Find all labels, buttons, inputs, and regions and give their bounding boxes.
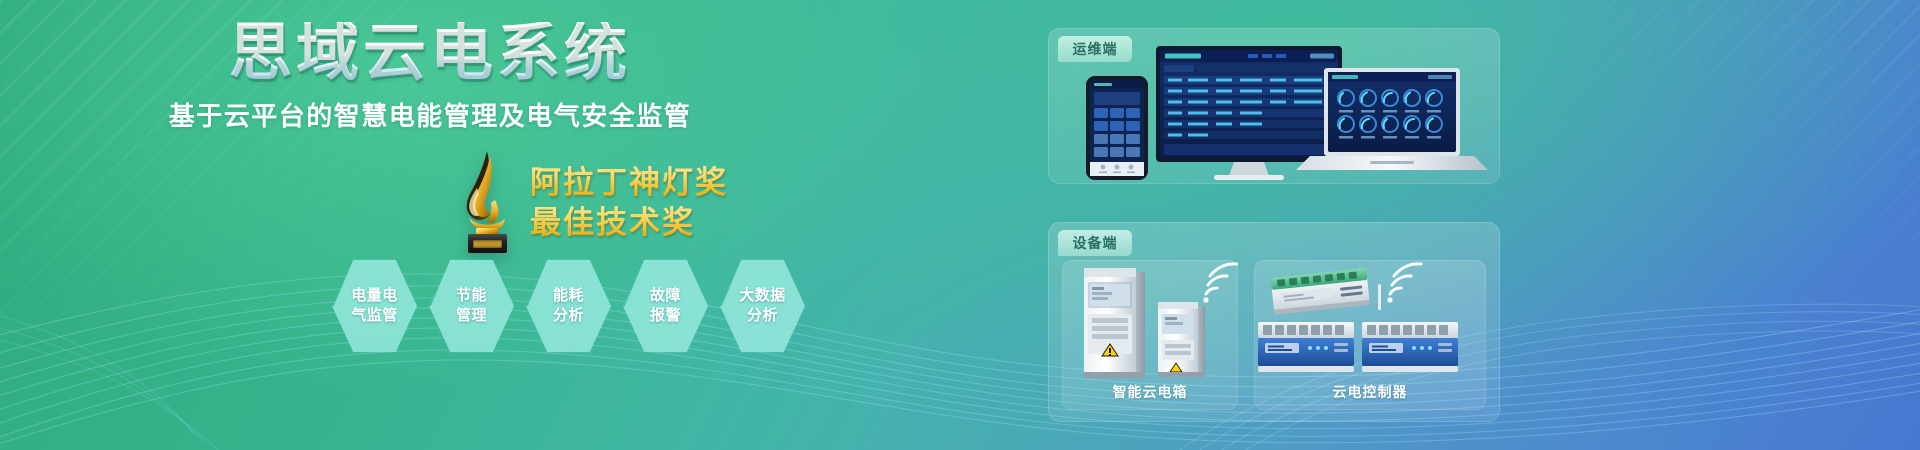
banner-copy: 思域云电系统 基于云平台的智慧电能管理及电气安全监管 bbox=[0, 0, 860, 450]
feature-tag-label: 电量电 气监管 bbox=[351, 286, 398, 327]
operations-devices-illustration bbox=[1048, 28, 1500, 184]
award-list: 阿拉丁神灯奖 最佳技术奖 bbox=[530, 163, 850, 242]
device-card-controller[interactable]: 云电控制器 bbox=[1254, 260, 1486, 410]
feature-tag-consumption-analysis[interactable]: 能耗 分析 bbox=[526, 258, 611, 354]
trophy-icon bbox=[443, 148, 529, 254]
feature-tag-energy-saving[interactable]: 节能 管理 bbox=[429, 258, 514, 354]
panel-operations: 运维端 bbox=[1048, 28, 1500, 184]
page-subtitle: 基于云平台的智慧电能管理及电气安全监管 bbox=[0, 96, 860, 133]
device-caption-controller: 云电控制器 bbox=[1254, 382, 1486, 402]
diagonal-hatch-decoration-right bbox=[1500, 0, 1920, 260]
page-title: 思域云电系统 bbox=[0, 22, 860, 85]
feature-tag-label: 节能 管理 bbox=[456, 286, 487, 327]
feature-tag-label: 能耗 分析 bbox=[553, 286, 584, 327]
panel-tab-devices[interactable]: 设备端 bbox=[1058, 230, 1132, 256]
promo-banner: 思域云电系统 基于云平台的智慧电能管理及电气安全监管 bbox=[0, 0, 1920, 450]
feature-tag-row: 电量电 气监管 节能 管理 能耗 分析 故障 报警 大数据 分析 bbox=[332, 258, 805, 354]
award-line-1: 阿拉丁神灯奖 bbox=[530, 163, 850, 203]
feature-tag-label: 大数据 分析 bbox=[739, 286, 786, 327]
antenna-icon bbox=[1378, 284, 1381, 310]
wifi-icon bbox=[1387, 264, 1421, 303]
feature-tag-label: 故障 报警 bbox=[650, 286, 681, 327]
device-caption-smart-box: 智能云电箱 bbox=[1062, 382, 1238, 402]
award-line-2: 最佳技术奖 bbox=[530, 203, 850, 243]
feature-tag-fault-alarm[interactable]: 故障 报警 bbox=[623, 258, 708, 354]
feature-tag-power-monitoring[interactable]: 电量电 气监管 bbox=[332, 258, 417, 354]
device-card-smart-box[interactable]: 智能云电箱 bbox=[1062, 260, 1238, 410]
wifi-icon bbox=[1203, 264, 1237, 303]
panel-devices: 设备端 bbox=[1048, 222, 1500, 422]
feature-tag-big-data-analysis[interactable]: 大数据 分析 bbox=[720, 258, 805, 354]
